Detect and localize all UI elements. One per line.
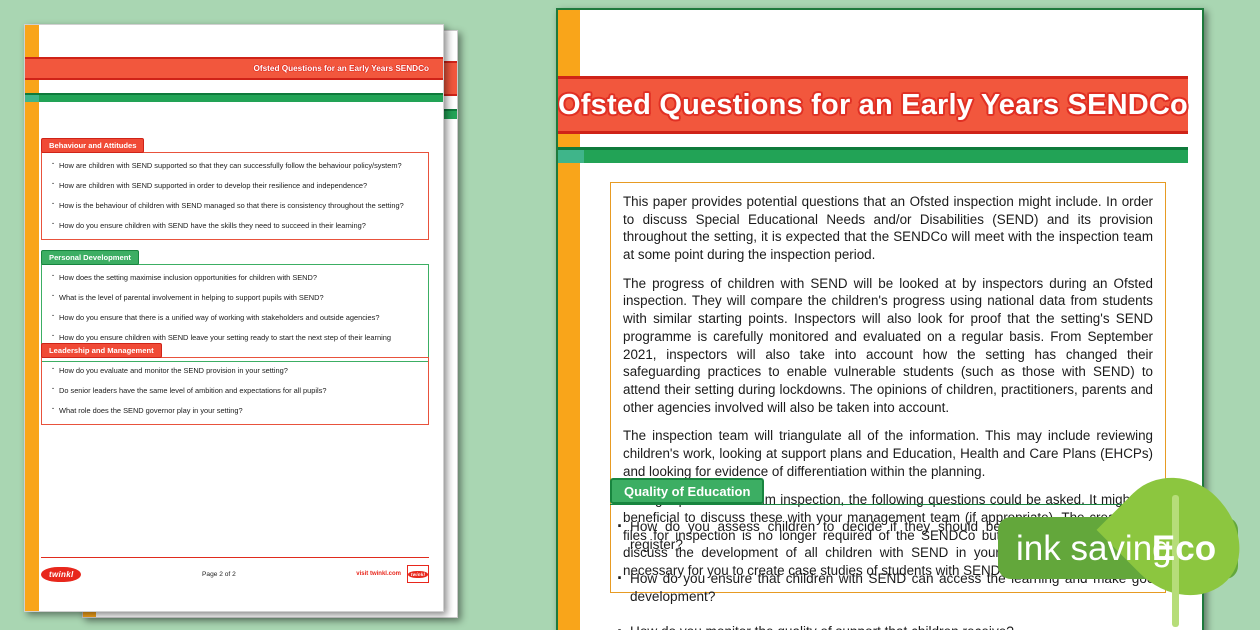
list-item: How do you ensure children with SEND hav… xyxy=(50,221,420,231)
header-green-rule xyxy=(558,150,1188,163)
list-item: How is the behaviour of children with SE… xyxy=(50,201,420,211)
question-list: How do you evaluate and monitor the SEND… xyxy=(41,357,429,425)
page-header-banner: Ofsted Questions for an Early Years SEND… xyxy=(25,57,443,80)
twinkl-logo: twinkl xyxy=(408,571,428,578)
document-page-2[interactable]: Ofsted Questions for an Early Years SEND… xyxy=(24,24,444,612)
list-item: What is the level of parental involvemen… xyxy=(50,293,420,303)
document-title-banner: Ofsted Questions for an Early Years SEND… xyxy=(558,76,1188,134)
list-item: How do you ensure that there is a unifie… xyxy=(50,313,420,323)
twinkl-logo: twinkl xyxy=(41,567,81,582)
page-accent-bar-orange xyxy=(25,25,39,611)
twinkl-stamp-icon: twinkl xyxy=(407,565,429,583)
list-item: How do you evaluate and monitor the SEND… xyxy=(50,366,420,376)
ink-saving-eco-badge: ink saving Eco xyxy=(990,455,1260,630)
page-number: Page 2 of 2 xyxy=(202,571,236,578)
eco-label: Eco xyxy=(1138,525,1230,573)
page-header-title: Ofsted Questions for an Early Years SEND… xyxy=(254,64,429,73)
section-tab-label: Leadership and Management xyxy=(41,343,162,358)
list-item: What role does the SEND governor play in… xyxy=(50,406,420,416)
list-item: How does the setting maximise inclusion … xyxy=(50,273,420,283)
section-behaviour-and-attitudes: Behaviour and Attitudes How are children… xyxy=(41,135,429,240)
page-header-green-rule xyxy=(25,95,443,102)
section-tab-label: Personal Development xyxy=(41,250,139,265)
page-footer: twinkl Page 2 of 2 visit twinkl.com twin… xyxy=(41,557,429,587)
question-list: How are children with SEND supported so … xyxy=(41,152,429,240)
section-tab-quality-of-education: Quality of Education xyxy=(610,478,764,504)
section-tab-label: Behaviour and Attitudes xyxy=(41,138,144,153)
intro-paragraph: This paper provides potential questions … xyxy=(623,193,1153,264)
section-tab-label: Quality of Education xyxy=(624,484,750,499)
list-item: Do senior leaders have the same level of… xyxy=(50,386,420,396)
intro-paragraph: The progress of children with SEND will … xyxy=(623,275,1153,417)
list-item: How are children with SEND supported so … xyxy=(50,161,420,171)
section-leadership-and-management: Leadership and Management How do you eva… xyxy=(41,340,429,425)
visit-link[interactable]: visit twinkl.com xyxy=(356,571,401,577)
page-title: Ofsted Questions for an Early Years SEND… xyxy=(558,89,1188,122)
list-item: How are children with SEND supported in … xyxy=(50,181,420,191)
